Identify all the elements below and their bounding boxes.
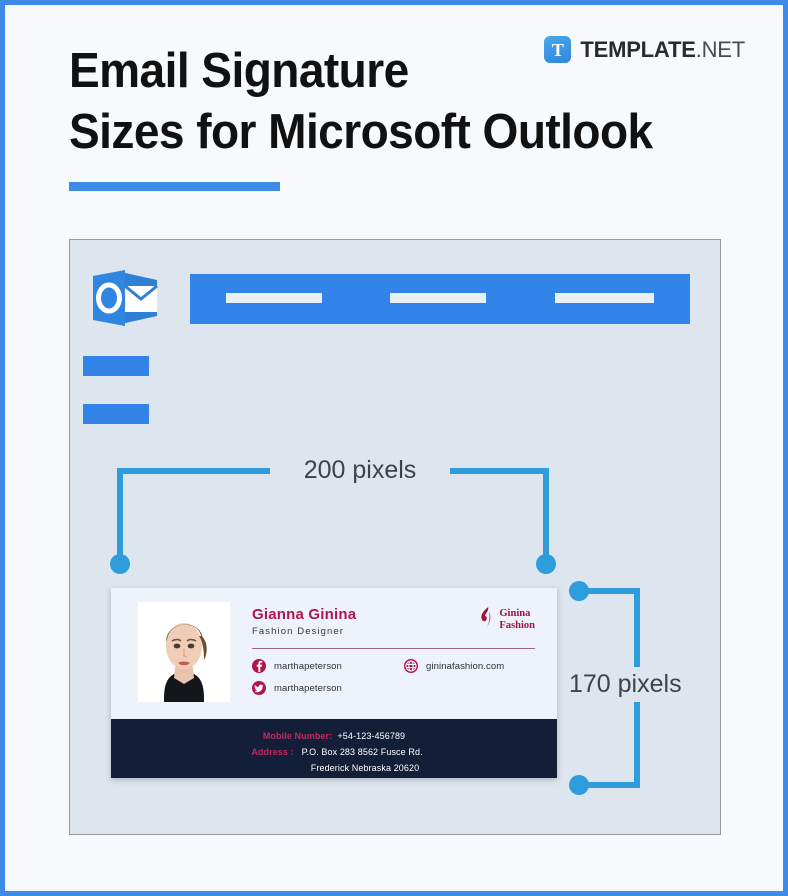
height-measure-dot-bottom xyxy=(569,775,589,795)
contact-website-text: gininafashion.com xyxy=(426,661,504,672)
page-title-line-2: Sizes for Microsoft Outlook xyxy=(69,102,689,163)
avatar xyxy=(138,602,230,702)
contact-name: Gianna Ginina xyxy=(252,606,356,624)
footer-address-row-2: Frederick Nebraska 20620 xyxy=(111,760,557,776)
footer-address-sep: : xyxy=(291,747,294,757)
footer-mobile-sep: : xyxy=(329,731,332,741)
mockup-toolbar xyxy=(190,274,690,324)
contact-website[interactable]: gininafashion.com xyxy=(404,659,541,673)
facebook-icon xyxy=(252,659,266,673)
contact-role: Fashion Designer xyxy=(252,626,356,637)
width-measure-leg-left xyxy=(117,468,123,566)
company-name-line-2: Fashion xyxy=(499,620,535,632)
height-measurement-label: 170 pixels xyxy=(565,667,686,702)
footer-address-label: Address xyxy=(251,747,288,757)
globe-icon xyxy=(404,659,418,673)
outlook-mockup-panel: 200 pixels 170 pixels xyxy=(69,239,721,835)
footer-mobile-label: Mobile Number xyxy=(263,731,329,741)
signature-details: Gianna Ginina Fashion Designer xyxy=(252,602,541,719)
sidebar-placeholder-2 xyxy=(83,404,149,424)
signature-identity: Gianna Ginina Fashion Designer xyxy=(252,606,356,637)
footer-address-row: Address : P.O. Box 283 8562 Fusce Rd. xyxy=(111,744,557,760)
sidebar-placeholder-1 xyxy=(83,356,149,376)
width-measure-leg-right xyxy=(543,468,549,566)
contact-facebook-text: marthapeterson xyxy=(274,661,342,672)
contact-facebook[interactable]: marthapeterson xyxy=(252,659,404,673)
width-measurement-label: 200 pixels xyxy=(270,456,450,485)
title-accent-rule xyxy=(69,182,280,191)
footer-address-line-1: P.O. Box 283 8562 Fusce Rd. xyxy=(302,747,423,757)
footer-mobile-row: Mobile Number: +54-123-456789 xyxy=(111,728,557,744)
footer-address-line-2: Frederick Nebraska 20620 xyxy=(311,763,419,773)
signature-body: Gianna Ginina Fashion Designer xyxy=(111,588,557,719)
company-logo: Ginina Fashion xyxy=(479,606,535,633)
signature-identity-row: Gianna Ginina Fashion Designer xyxy=(252,606,541,637)
brand-name-light: .NET xyxy=(696,37,745,62)
contact-twitter[interactable]: marthapeterson xyxy=(252,681,404,695)
microsoft-outlook-icon xyxy=(91,268,159,328)
width-measure-dot-right xyxy=(536,554,556,574)
signature-footer: Mobile Number: +54-123-456789 Address : … xyxy=(111,719,557,778)
width-measure-dot-left xyxy=(110,554,130,574)
height-measure-dot-top xyxy=(569,581,589,601)
signature-divider xyxy=(252,648,535,649)
company-logo-text: Ginina Fashion xyxy=(499,608,535,631)
twitter-icon xyxy=(252,681,266,695)
contact-twitter-text: marthapeterson xyxy=(274,683,342,694)
toolbar-placeholder-2 xyxy=(390,293,486,303)
toolbar-placeholder-3 xyxy=(555,293,654,303)
signature-contacts: marthapeterson gininafashion.com xyxy=(252,659,541,695)
page-title-line-1: Email Signature xyxy=(69,41,689,102)
footer-mobile-value: +54-123-456789 xyxy=(337,731,405,741)
ginina-fashion-flame-icon xyxy=(479,606,494,633)
email-signature-card: Gianna Ginina Fashion Designer xyxy=(111,588,557,778)
page-title: Email Signature Sizes for Microsoft Outl… xyxy=(69,41,689,163)
page-root: T TEMPLATE.NET Email Signature Sizes for… xyxy=(0,0,788,896)
toolbar-placeholder-1 xyxy=(226,293,322,303)
company-name-line-1: Ginina xyxy=(499,608,535,620)
